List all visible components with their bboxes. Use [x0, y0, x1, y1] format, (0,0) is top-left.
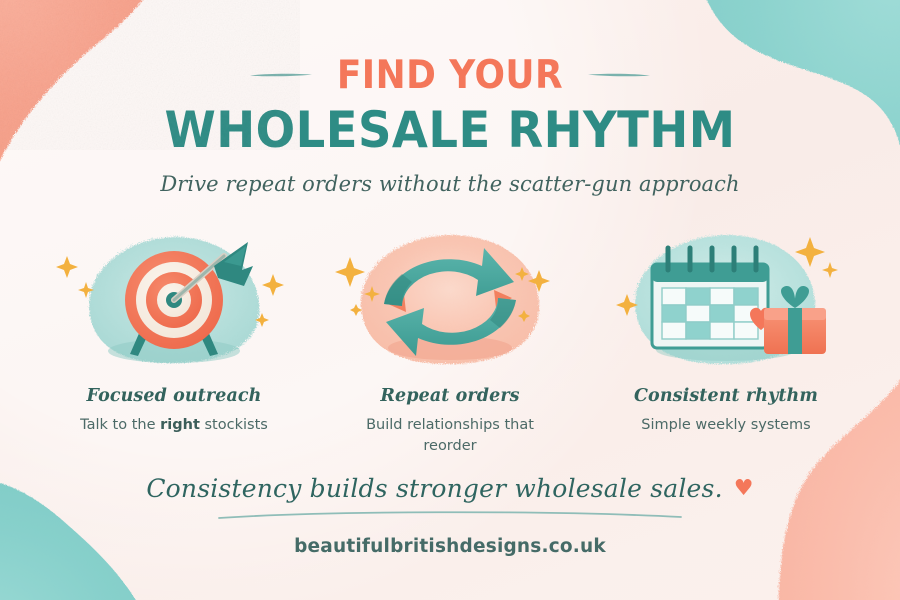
circular-arrows-refresh-icon: [324, 226, 576, 374]
card-body-pre: Simple weekly systems: [641, 417, 810, 433]
tapered-dash-left-icon: [249, 70, 313, 80]
card-body-pre: Talk to the: [80, 417, 160, 433]
card-title: Repeat orders: [324, 386, 576, 406]
hand-drawn-divider-icon: [215, 509, 685, 521]
card-body-strong: right: [160, 417, 200, 433]
feature-card-consistent-rhythm: Consistent rhythm Simple weekly systems: [600, 226, 852, 436]
card-title: Consistent rhythm: [600, 386, 852, 406]
tagline-section: Consistency builds stronger wholesale sa…: [0, 474, 900, 521]
card-body: Simple weekly systems: [600, 415, 852, 436]
tapered-dash-right-icon: [587, 70, 651, 80]
poster-canvas: FIND YOUR WHOLESALE RHYTHM Drive repeat …: [0, 0, 900, 600]
poster-tagline: Consistency builds stronger wholesale sa…: [146, 474, 753, 503]
poster-kicker: FIND YOUR: [337, 56, 563, 95]
footer-url[interactable]: beautifulbritishdesigns.co.uk: [0, 536, 900, 557]
card-title: Focused outreach: [48, 386, 300, 406]
calendar-gift-icon: [600, 226, 852, 374]
feature-cards: Focused outreach Talk to the right stock…: [0, 226, 900, 456]
card-body-pre: Build relationships that reorder: [366, 417, 534, 454]
tagline-text: Consistency builds stronger wholesale sa…: [146, 474, 722, 503]
kicker-row: FIND YOUR: [0, 52, 900, 98]
heart-icon: ♥: [734, 478, 754, 500]
card-body: Talk to the right stockists: [48, 415, 300, 436]
target-dartboard-icon: [48, 226, 300, 374]
card-body: Build relationships that reorder: [324, 415, 576, 456]
feature-card-focused-outreach: Focused outreach Talk to the right stock…: [48, 226, 300, 436]
poster-subtitle: Drive repeat orders without the scatter-…: [0, 172, 900, 196]
poster-title: WHOLESALE RHYTHM: [32, 105, 869, 155]
poster-header: FIND YOUR WHOLESALE RHYTHM Drive repeat …: [0, 52, 900, 196]
feature-card-repeat-orders: Repeat orders Build relationships that r…: [324, 226, 576, 456]
card-body-post: stockists: [200, 417, 268, 433]
